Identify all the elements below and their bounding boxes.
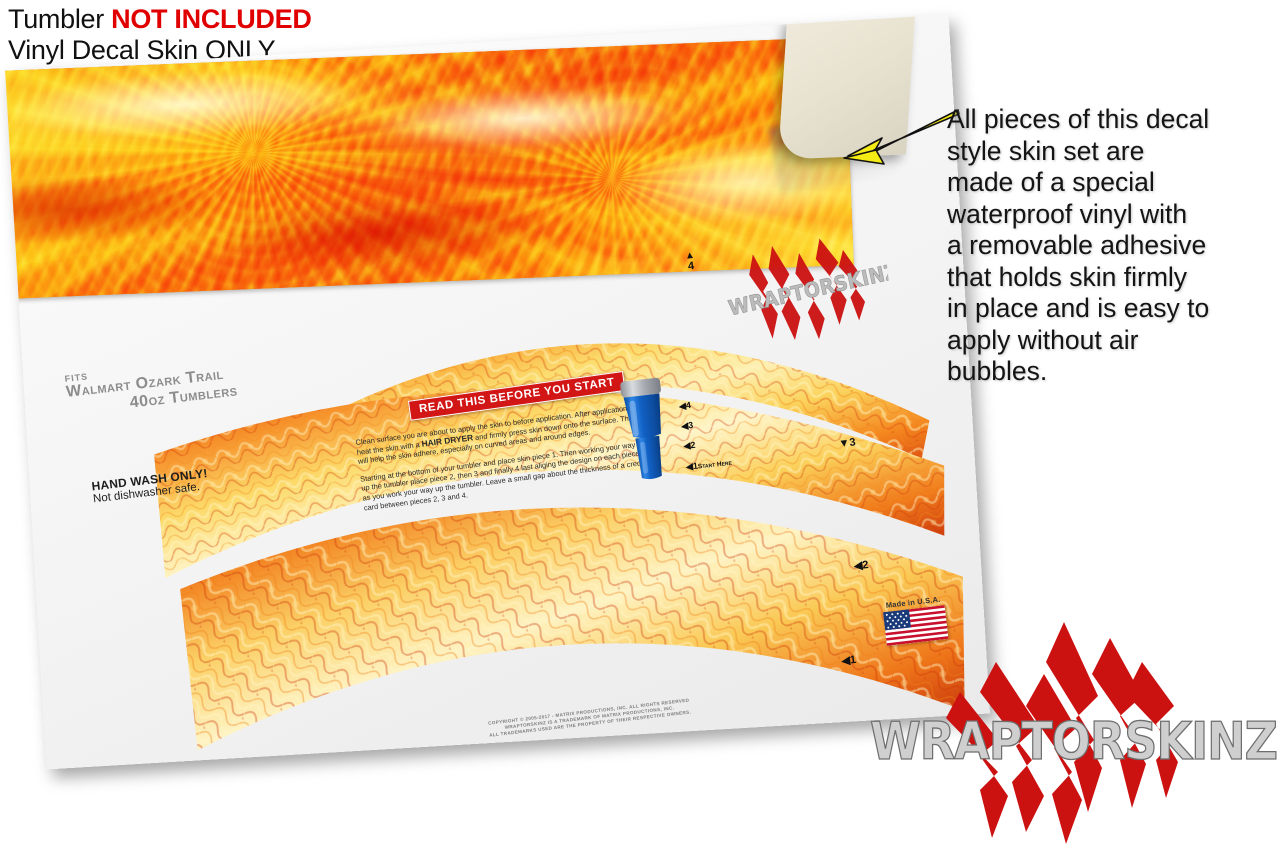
claw-mark-icon: WRAPTORSKINZ xyxy=(714,229,895,353)
headline-line1-prefix: Tumbler xyxy=(8,4,111,34)
product-image-canvas: Tumbler NOT INCLUDED Vinyl Decal Skin ON… xyxy=(0,0,1280,854)
feature-line-4: waterproof vinyl with xyxy=(947,199,1277,231)
callout-arrow xyxy=(830,108,960,178)
yellow-arrow-icon xyxy=(830,108,960,178)
piece-marker-4-label: 4 xyxy=(685,260,696,273)
brand-wordmark: WRAPTORSKINZ xyxy=(870,712,1277,772)
tumbler-marker-3-label: 3 xyxy=(688,420,694,431)
tumbler-marker-4: ◀4 xyxy=(678,400,691,412)
piece-marker-2: ◀2 xyxy=(853,558,869,573)
feature-line-3: made of a special xyxy=(947,167,1277,199)
headline-not-included: NOT INCLUDED xyxy=(111,4,311,34)
feature-line-7: in place and is easy to xyxy=(947,293,1277,325)
feature-line-9: bubbles. xyxy=(947,356,1277,388)
feature-line-2: style skin set are xyxy=(947,136,1277,168)
tumbler-diagram: ◀4 ◀3 ◀2 ◀1Start Here xyxy=(609,370,684,491)
feature-line-1: All pieces of this decal xyxy=(947,104,1277,136)
tumbler-marker-3: ◀3 xyxy=(681,420,694,432)
sheet-watermark-logo: WRAPTORSKINZ xyxy=(714,229,896,358)
brand-logo: WRAPTORSKINZ xyxy=(830,600,1280,854)
hair-dryer-emphasis: HAIR DRYER xyxy=(421,432,474,448)
feature-line-5: a removable adhesive xyxy=(947,230,1277,262)
red-claw-slash-icon: WRAPTORSKINZ xyxy=(830,600,1280,854)
piece-marker-2-label: 2 xyxy=(862,559,869,572)
tumbler-icon xyxy=(609,370,683,486)
tumbler-marker-2-label: 2 xyxy=(690,440,696,451)
piece-marker-3: ▼3 xyxy=(838,436,856,450)
piece-marker-4: ▲ 4 xyxy=(685,252,697,273)
feature-line-8: apply without air xyxy=(947,325,1277,357)
tumbler-marker-4-label: 4 xyxy=(685,400,691,411)
piece-marker-3-label: 3 xyxy=(849,436,856,449)
tumbler-marker-2: ◀2 xyxy=(683,440,696,452)
feature-line-6: that holds skin firmly xyxy=(947,262,1277,294)
feature-description: All pieces of this decal style skin set … xyxy=(947,104,1277,388)
